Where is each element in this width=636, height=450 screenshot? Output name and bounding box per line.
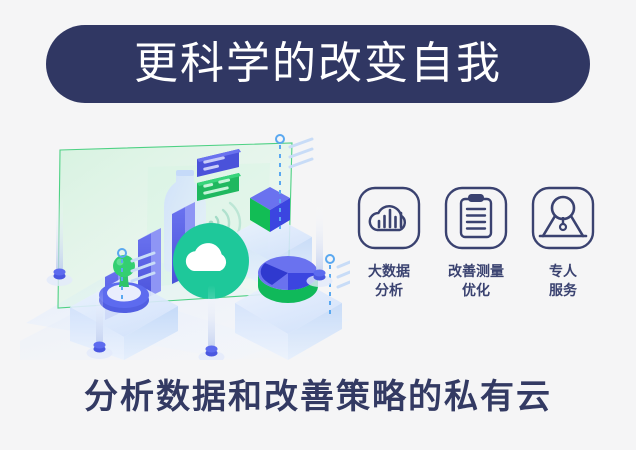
feature-list: 大数据 分析 改善测量 优化 <box>352 186 600 326</box>
hero-illustration <box>20 125 350 360</box>
feature-label: 专人 服务 <box>549 263 577 301</box>
cloud-bar-chart-icon <box>357 186 421 250</box>
feature-item-support: 专人 服务 <box>526 186 600 301</box>
poster-canvas: 更科学的改变自我 <box>0 0 636 450</box>
feature-label: 大数据 分析 <box>368 263 410 301</box>
feature-label: 改善测量 优化 <box>448 263 504 301</box>
tagline: 分析数据和改善策略的私有云 <box>0 378 636 417</box>
clipboard-icon <box>444 186 508 250</box>
feature-item-big-data: 大数据 分析 <box>352 186 426 301</box>
support-agent-icon <box>531 186 595 250</box>
feature-item-measurement: 改善测量 优化 <box>439 186 513 301</box>
header-banner: 更科学的改变自我 <box>46 25 590 103</box>
isometric-scene-svg <box>20 125 350 360</box>
page-title: 更科学的改变自我 <box>134 42 502 86</box>
